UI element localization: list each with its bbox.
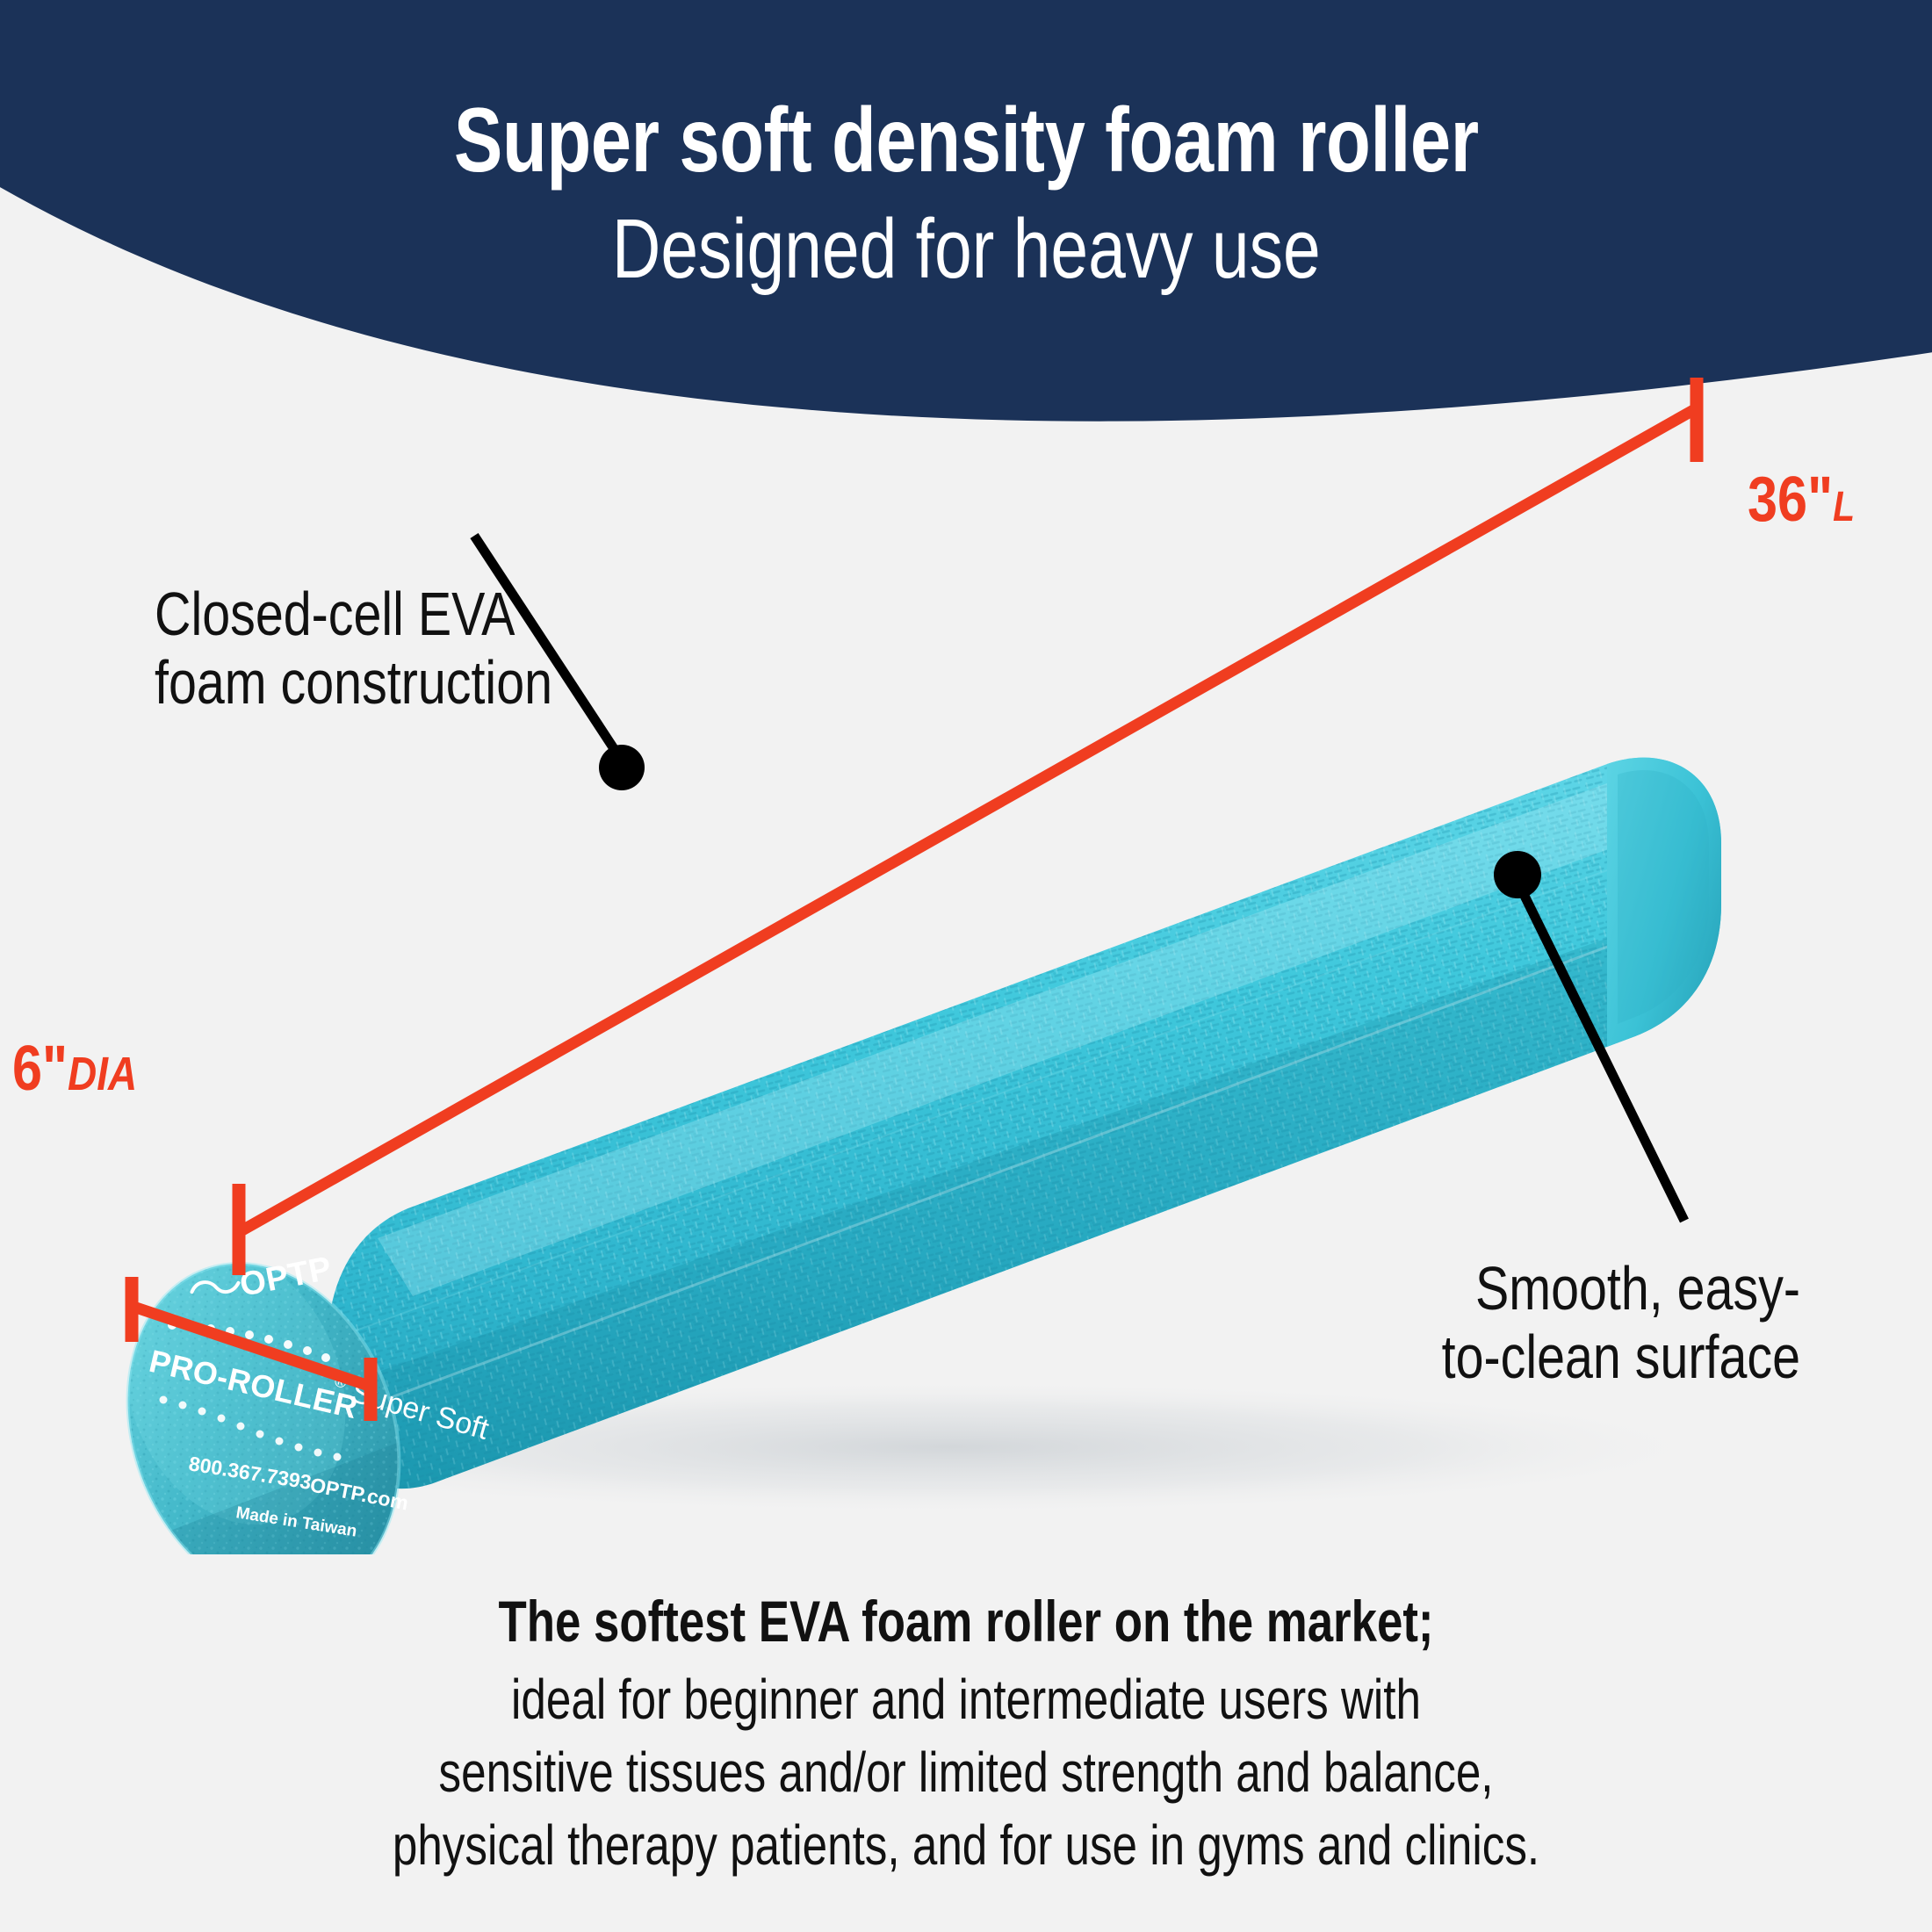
diameter-value: 6"	[12, 1034, 68, 1104]
callout-left-line2: foam construction	[155, 648, 552, 717]
callout-dot-right	[1494, 851, 1541, 898]
length-unit: L	[1833, 484, 1855, 530]
footer-line-1: ideal for beginner and intermediate user…	[193, 1663, 1739, 1736]
infographic-canvas: Super soft density foam roller Designed …	[0, 0, 1932, 1932]
footer-line-3: physical therapy patients, and for use i…	[193, 1809, 1739, 1882]
length-value: 36"	[1748, 465, 1833, 535]
callout-dot-left	[599, 745, 645, 790]
footer-text-block: The softest EVA foam roller on the marke…	[0, 1588, 1932, 1882]
callout-right-label: Smooth, easy- to-clean surface	[1442, 1254, 1800, 1392]
callout-right-line1: Smooth, easy-	[1442, 1254, 1800, 1323]
callout-left-line1: Closed-cell EVA	[155, 580, 552, 648]
roller-right-end	[1607, 758, 1721, 1047]
diameter-unit: DIA	[68, 1048, 137, 1100]
length-dimension-label: 36"L	[1748, 464, 1855, 536]
callout-left-label: Closed-cell EVA foam construction	[155, 580, 552, 717]
diameter-dimension-label: 6"DIA	[12, 1033, 137, 1105]
footer-headline: The softest EVA foam roller on the marke…	[193, 1588, 1739, 1656]
callout-right-line2: to-clean surface	[1442, 1323, 1800, 1391]
footer-line-2: sensitive tissues and/or limited strengt…	[193, 1736, 1739, 1809]
